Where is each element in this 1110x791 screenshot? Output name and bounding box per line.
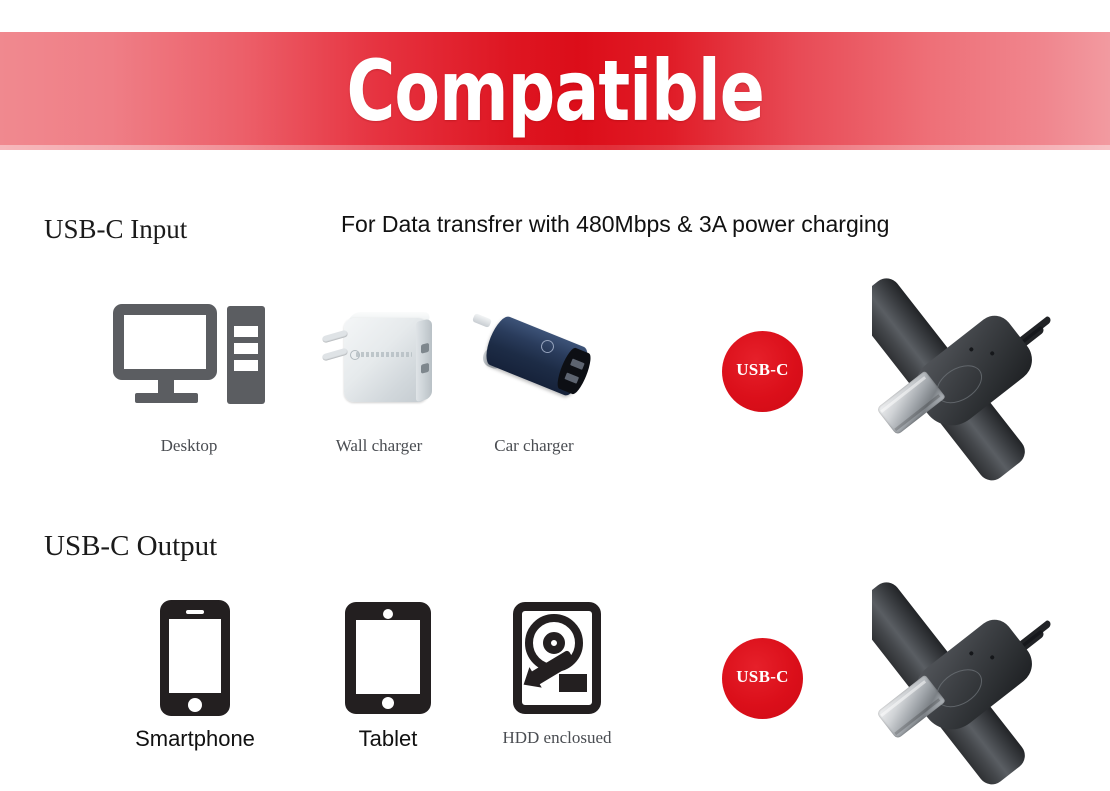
usb-c-connector-input [872,268,1110,483]
usb-c-badge-input: USB-C [722,331,803,412]
tablet-icon [345,602,431,714]
desktop-icon [113,304,265,408]
car-charger-icon [469,304,599,408]
spec-text: For Data transfrer with 480Mbps & 3A pow… [341,211,889,238]
item-label: Desktop [113,436,265,456]
item-hdd-enclosure: HDD enclosued [513,602,601,748]
usb-c-badge-output: USB-C [722,638,803,719]
item-wall-charger: Wall charger [316,304,442,456]
item-car-charger: Car charger [469,304,599,456]
usb-c-badge-label: USB-C [736,667,789,687]
section-heading-output: USB-C Output [44,530,217,563]
item-label: Tablet [315,726,461,752]
item-label: Car charger [469,436,599,456]
item-desktop: Desktop [113,304,265,456]
item-label: HDD enclosued [479,728,635,748]
usb-c-badge-label: USB-C [736,360,789,380]
wall-charger-icon [316,304,442,408]
item-label: Smartphone [112,726,278,752]
usb-c-connector-output [872,572,1110,787]
section-heading-input: USB-C Input [44,214,187,245]
item-label: Wall charger [316,436,442,456]
infographic-page: Compatible USB-C Input For Data transfre… [0,0,1110,791]
item-tablet: Tablet [345,602,431,752]
page-title: Compatible [346,48,764,134]
header-banner: Compatible [0,32,1110,150]
smartphone-icon [160,600,230,716]
hdd-icon [513,602,601,714]
item-smartphone: Smartphone [160,600,230,752]
